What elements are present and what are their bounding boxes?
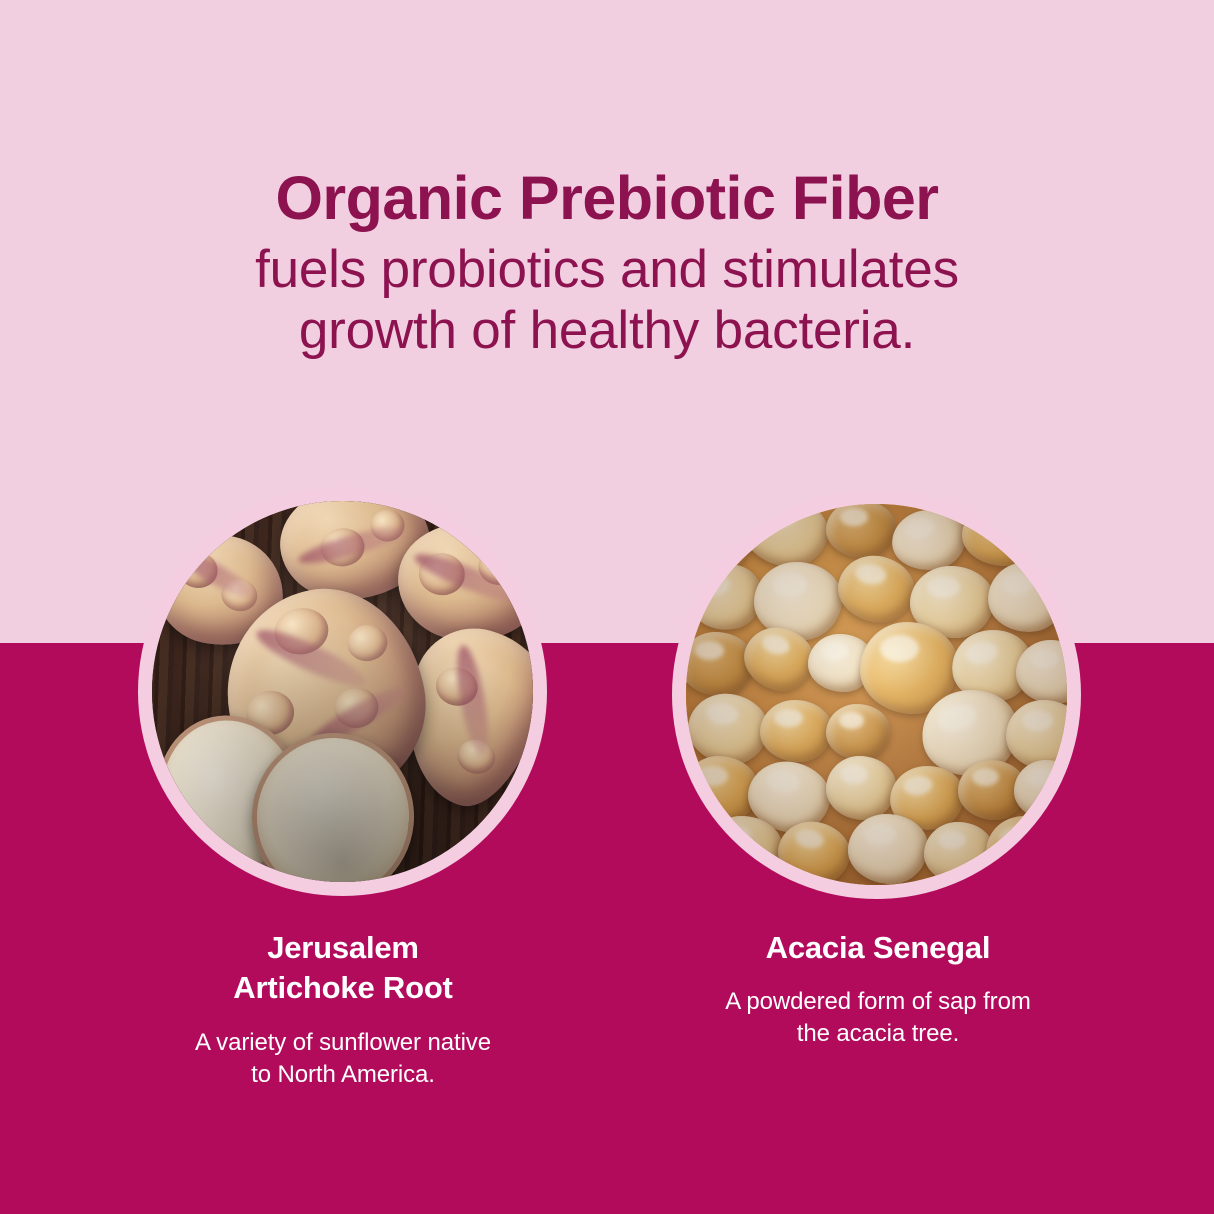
artichoke-tuber-top [274,501,435,607]
caption-description: A powdered form of sap from the acacia t… [643,986,1113,1050]
subtitle-line-1: fuels probiotics and stimulates [0,239,1214,300]
headline-block: Organic Prebiotic Fiber fuels probiotics… [0,168,1214,362]
caption-acacia-senegal: Acacia Senegal A powdered form of sap fr… [643,928,1113,1051]
infographic-canvas: Organic Prebiotic Fiber fuels probiotics… [0,0,1214,1214]
artichoke-slice-front [244,725,423,882]
caption-title: Jerusalem Artichoke Root [108,928,578,1009]
page-subtitle: fuels probiotics and stimulates growth o… [0,239,1214,362]
caption-title-line-1: Jerusalem [108,928,578,968]
ingredient-circle-acacia-senegal [672,490,1081,899]
wood-background [152,501,533,882]
jerusalem-artichoke-photo [152,501,533,882]
caption-description: A variety of sunflower native to North A… [108,1027,578,1091]
gum-arabic-crystals [686,504,1067,885]
caption-jerusalem-artichoke: Jerusalem Artichoke Root A variety of su… [108,928,578,1091]
caption-desc-line-1: A variety of sunflower native [108,1027,578,1059]
ingredient-circle-jerusalem-artichoke [138,487,547,896]
artichoke-tuber-right [384,614,533,820]
caption-title-line-1: Acacia Senegal [643,928,1113,968]
caption-desc-line-2: the acacia tree. [643,1018,1113,1050]
caption-desc-line-2: to North America. [108,1059,578,1091]
artichoke-tuber-upper-left [152,523,294,657]
caption-title: Acacia Senegal [643,928,1113,968]
acacia-senegal-photo [686,504,1067,885]
caption-title-line-2: Artichoke Root [108,968,578,1008]
caption-desc-line-1: A powdered form of sap from [643,986,1113,1018]
artichoke-tuber-upper-right [390,514,533,651]
artichoke-tuber-main [211,574,441,819]
artichoke-slice-back [152,700,319,882]
page-title: Organic Prebiotic Fiber [0,168,1214,229]
subtitle-line-2: growth of healthy bacteria. [0,300,1214,361]
